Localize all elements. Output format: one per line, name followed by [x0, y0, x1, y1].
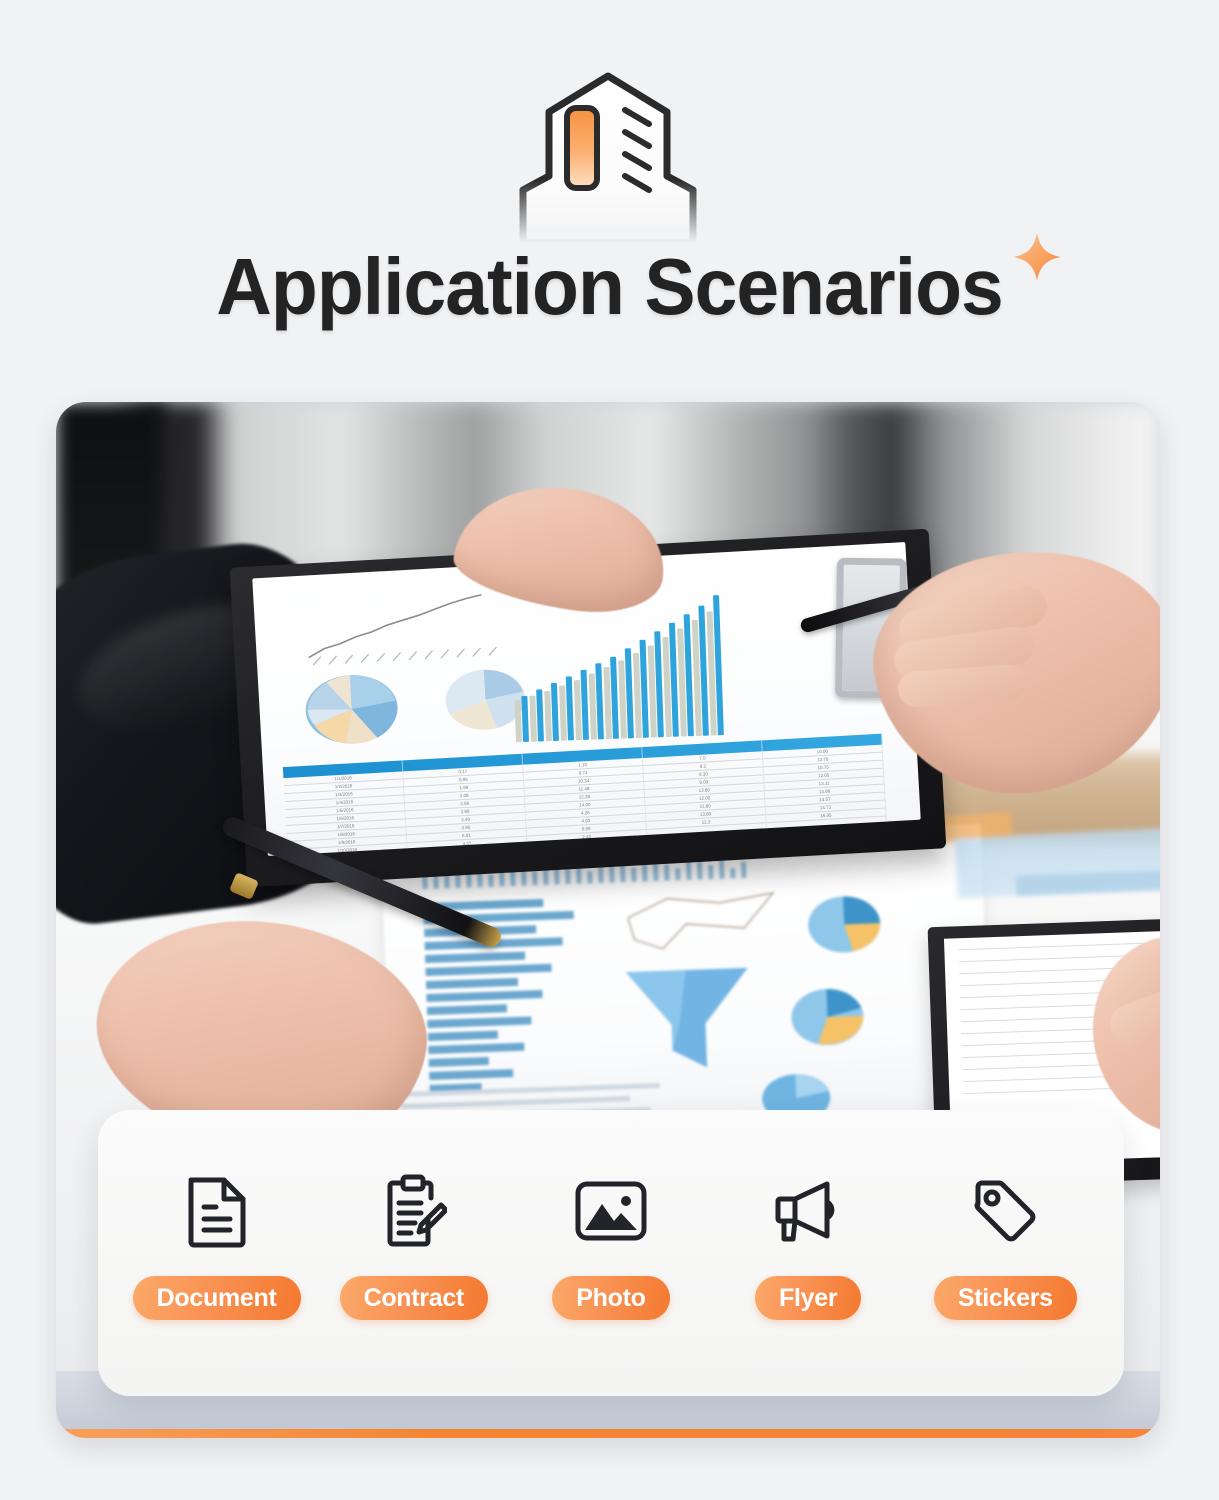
card-orange-accent-bar — [56, 1429, 1160, 1438]
background-pie-chart-1 — [803, 887, 892, 965]
scenario-item-flyer[interactable]: Flyer — [717, 1158, 899, 1348]
scenario-panel: Document Contract — [98, 1110, 1124, 1396]
scenario-item-stickers[interactable]: Stickers — [914, 1158, 1096, 1348]
business-meeting-clipboard-photo: 1/1/20160.171.107.010.00 1/2/20160.959.7… — [56, 402, 1160, 1438]
photo-image-icon — [572, 1168, 650, 1254]
background-funnel-chart — [622, 962, 756, 1081]
page-header: Application Scenarios — [0, 0, 1219, 400]
background-pie-chart-2 — [786, 980, 875, 1058]
price-tag-icon — [966, 1168, 1044, 1254]
document-icon — [178, 1168, 256, 1254]
page-title: Application Scenarios — [216, 247, 1002, 327]
scenario-item-contract[interactable]: Contract — [323, 1158, 505, 1348]
application-scenarios-page: Application Scenarios — [0, 0, 1219, 1500]
building-logo-icon — [497, 68, 719, 243]
scenario-label-document: Document — [133, 1276, 301, 1320]
scenario-label-contract: Contract — [340, 1276, 488, 1320]
scenario-item-photo[interactable]: Photo — [520, 1158, 702, 1348]
contract-clipboard-pen-icon — [375, 1168, 453, 1254]
scenario-item-document[interactable]: Document — [126, 1158, 308, 1348]
scenario-label-flyer: Flyer — [755, 1276, 861, 1320]
megaphone-icon — [769, 1168, 847, 1254]
scenario-label-stickers: Stickers — [934, 1276, 1077, 1320]
scenario-label-photo: Photo — [552, 1276, 669, 1320]
sparkle-star-icon — [1011, 231, 1063, 283]
page-title-row: Application Scenarios — [0, 232, 1219, 342]
